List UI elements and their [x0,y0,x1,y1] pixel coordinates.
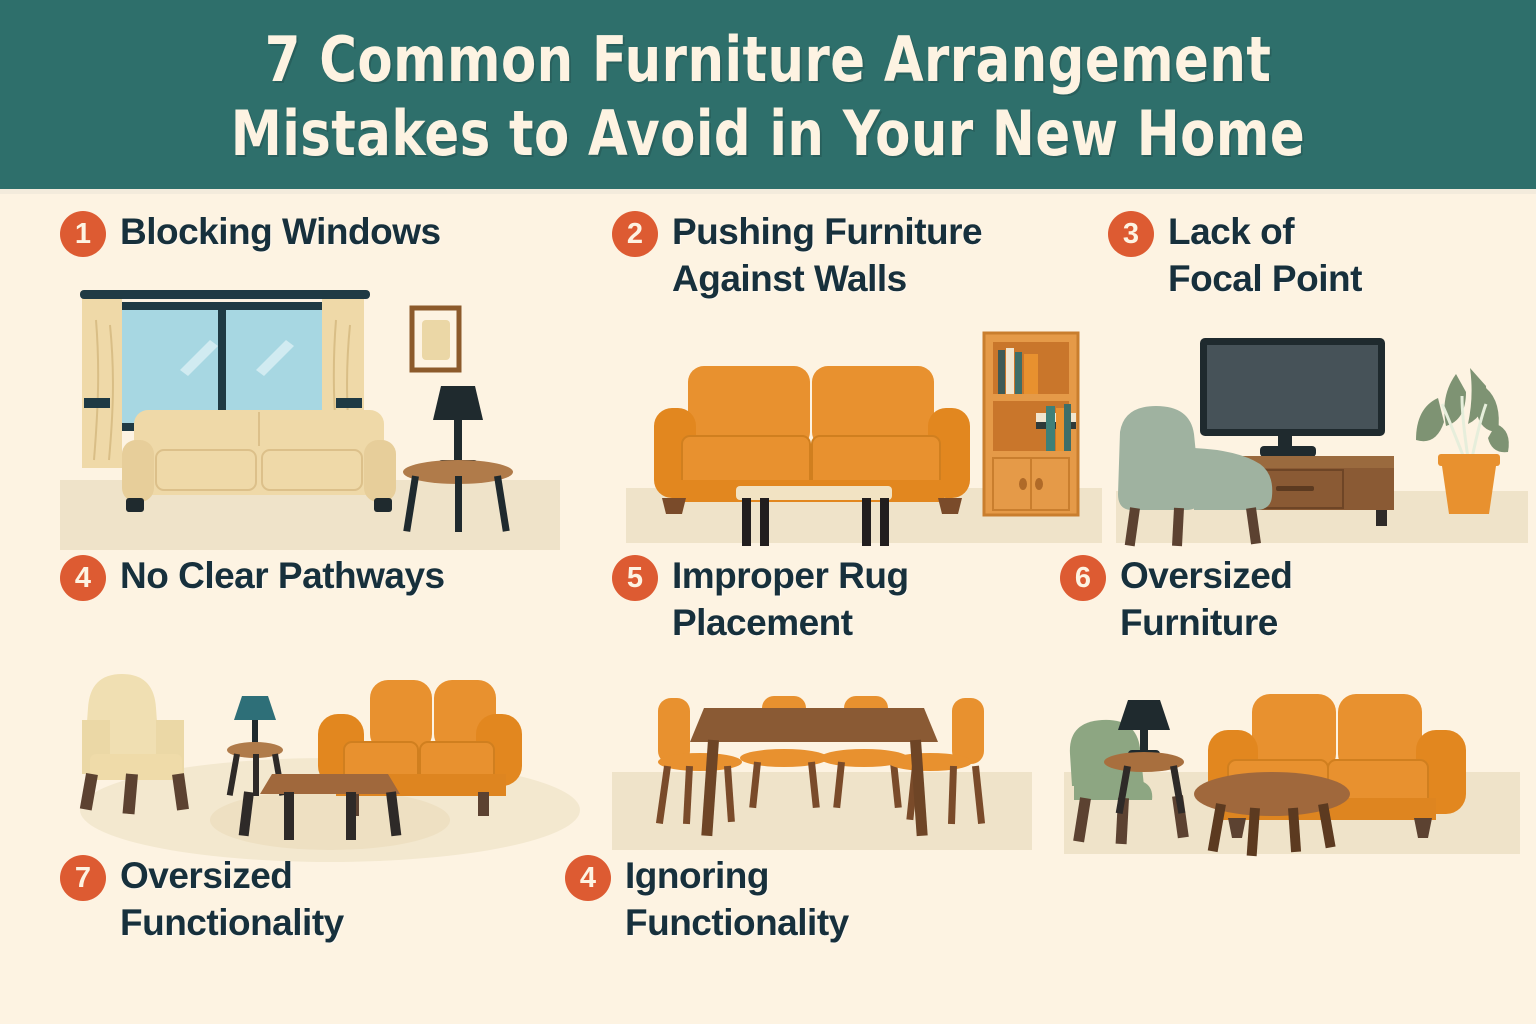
item-title-6-line-2: Furniture [1120,599,1292,646]
item-card-8: 4 Ignoring Functionality [565,852,1065,1017]
item-title-5: Improper Rug Placement [672,552,909,646]
item-title-5-line-2: Placement [672,599,909,646]
item-number-badge-8: 4 [565,855,611,901]
item-card-1: 1 Blocking Windows [60,208,560,558]
page-title-line-1: 7 Common Furniture Arrangement [265,23,1272,97]
item-heading-5: 5 Improper Rug Placement [612,552,1052,646]
item-title-7-line-2: Functionality [120,899,344,946]
item-title-7-line-1: Oversized [120,852,344,899]
item-title-6: Oversized Furniture [1120,552,1292,646]
oversized-furniture-svg [1060,662,1530,862]
item-number-badge-6: 6 [1060,555,1106,601]
item-number-badge-1: 1 [60,211,106,257]
item-card-7: 7 Oversized Functionality [60,852,560,1017]
item-card-3: 3 Lack of Focal Point [1108,208,1528,558]
illustration-pushing-furniture-against-walls [612,328,1112,553]
item-number-badge-7: 7 [60,855,106,901]
item-title-6-line-1: Oversized [1120,552,1292,599]
item-title-3-line-1: Lack of [1168,208,1362,255]
item-title-1: Blocking Windows [120,208,441,255]
item-title-5-line-1: Improper Rug [672,552,909,599]
item-heading-2: 2 Pushing Furniture Against Walls [612,208,1112,302]
illustration-lack-of-focal-point [1108,328,1528,553]
item-heading-6: 6 Oversized Furniture [1060,552,1530,646]
item-heading-4: 4 No Clear Pathways [60,552,600,601]
item-title-4: No Clear Pathways [120,552,445,599]
item-card-6: 6 Oversized Furniture [1060,552,1530,862]
item-number-badge-2: 2 [612,211,658,257]
item-title-2-line-2: Against Walls [672,255,982,302]
page-header: 7 Common Furniture Arrangement Mistakes … [0,0,1536,189]
improper-rug-placement-svg [612,662,1052,862]
item-number-badge-4: 4 [60,555,106,601]
item-number-badge-5: 5 [612,555,658,601]
illustration-blocking-windows [60,280,560,550]
infographic-page: 7 Common Furniture Arrangement Mistakes … [0,0,1536,1024]
lack-of-focal-point-svg [1108,328,1528,553]
pushing-furniture-svg [612,328,1112,553]
item-title-2-line-1: Pushing Furniture [672,208,982,255]
item-heading-7: 7 Oversized Functionality [60,852,560,946]
blocking-windows-svg [60,280,560,550]
item-title-7: Oversized Functionality [120,852,344,946]
item-title-3-line-2: Focal Point [1168,255,1362,302]
item-title-8: Ignoring Functionality [625,852,849,946]
illustration-improper-rug-placement [612,662,1052,862]
illustration-oversized-furniture [1060,662,1530,862]
item-card-5: 5 Improper Rug Placement [612,552,1052,862]
item-card-4: 4 No Clear Pathways [60,552,600,862]
no-clear-pathways-svg [60,662,600,862]
item-card-2: 2 Pushing Furniture Against Walls [612,208,1112,558]
item-title-8-line-1: Ignoring [625,852,849,899]
item-number-badge-3: 3 [1108,211,1154,257]
illustration-no-clear-pathways [60,662,600,862]
item-title-3: Lack of Focal Point [1168,208,1362,302]
item-heading-3: 3 Lack of Focal Point [1108,208,1528,302]
item-heading-8: 4 Ignoring Functionality [565,852,1065,946]
item-heading-1: 1 Blocking Windows [60,208,560,257]
items-grid: 1 Blocking Windows [0,194,1536,1024]
page-title-line-2: Mistakes to Avoid in Your New Home [231,97,1305,171]
item-title-8-line-2: Functionality [625,899,849,946]
item-title-2: Pushing Furniture Against Walls [672,208,982,302]
